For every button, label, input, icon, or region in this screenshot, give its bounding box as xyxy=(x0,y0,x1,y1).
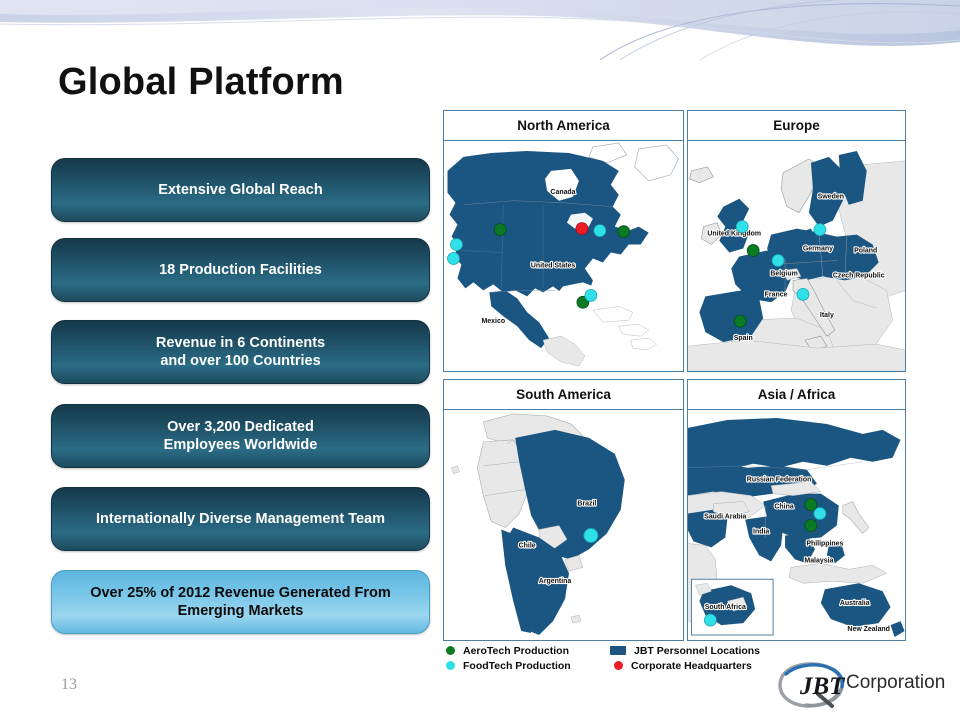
map-label-india: India xyxy=(753,528,769,535)
map-label-malaysia: Malaysia xyxy=(804,557,833,564)
legend-item-aerotech-production[interactable]: AeroTech Production xyxy=(446,644,569,657)
header-swoosh-decoration xyxy=(0,0,960,60)
legend-label: JBT Personnel Locations xyxy=(634,645,760,657)
marker-aerotech[interactable] xyxy=(747,245,759,257)
map-label-australia: Australia xyxy=(840,600,870,607)
map-svg-south-america: Brazil Chile Argentina xyxy=(444,410,683,640)
bullet-label-line2: and over 100 Countries xyxy=(156,352,325,370)
map-label-spain: Spain xyxy=(734,335,753,342)
marker-headquarters[interactable] xyxy=(576,223,588,235)
legend-dot-cyan-icon xyxy=(446,661,455,670)
slide-canvas: Global Platform Extensive Global Reach 1… xyxy=(0,0,960,720)
map-label-philippines: Philippines xyxy=(806,540,843,547)
map-label-italy: Italy xyxy=(820,312,834,319)
map-label-south-africa: South Africa xyxy=(705,604,746,611)
map-label-poland: Poland xyxy=(854,248,877,255)
map-panel-europe[interactable]: Europe xyxy=(687,110,906,372)
map-label-mexico: Mexico xyxy=(482,318,506,325)
logo-corporation-text: Corporation xyxy=(846,672,945,694)
bullet-label: Internationally Diverse Management Team xyxy=(96,510,385,528)
map-label-france: France xyxy=(765,291,788,298)
bullet-label: 18 Production Facilities xyxy=(159,261,322,279)
page-number: 13 xyxy=(61,676,77,694)
marker-foodtech[interactable] xyxy=(450,239,462,251)
marker-foodtech[interactable] xyxy=(585,289,597,301)
map-body-europe: Sweden United Kingdom Germany Poland Bel… xyxy=(688,141,905,371)
bullet-label-line2: Emerging Markets xyxy=(90,602,391,620)
legend-item-corporate-headquarters[interactable]: Corporate Headquarters xyxy=(614,659,752,672)
map-label-canada: Canada xyxy=(550,189,575,196)
map-label-united-kingdom: United Kingdom xyxy=(707,231,761,238)
swoosh-svg xyxy=(0,0,960,60)
bullet-employees-worldwide[interactable]: Over 3,200 Dedicated Employees Worldwide xyxy=(51,404,430,468)
marker-foodtech[interactable] xyxy=(814,224,826,236)
map-svg-north-america: Canada United States Mexico xyxy=(444,141,683,371)
bullet-label: Extensive Global Reach xyxy=(158,181,322,199)
marker-foodtech[interactable] xyxy=(584,528,598,542)
map-panel-asia-africa[interactable]: Asia / Africa xyxy=(687,379,906,641)
map-label-czech-republic: Czech Republic xyxy=(833,272,885,279)
marker-foodtech[interactable] xyxy=(736,221,748,233)
bullet-label-group: Revenue in 6 Continents and over 100 Cou… xyxy=(156,334,325,370)
map-label-new-zealand: New Zealand xyxy=(847,626,890,633)
bullet-emerging-markets-revenue[interactable]: Over 25% of 2012 Revenue Generated From … xyxy=(51,570,430,634)
bullet-extensive-global-reach[interactable]: Extensive Global Reach xyxy=(51,158,430,222)
bullet-diverse-management-team[interactable]: Internationally Diverse Management Team xyxy=(51,487,430,551)
legend-square-navy-icon xyxy=(610,646,626,655)
marker-aerotech[interactable] xyxy=(618,226,630,238)
map-label-china: China xyxy=(774,504,793,511)
marker-aerotech[interactable] xyxy=(805,520,817,532)
map-label-sweden: Sweden xyxy=(818,194,844,201)
map-body-north-america: Canada United States Mexico xyxy=(444,141,683,371)
panel-title-europe: Europe xyxy=(688,111,905,141)
map-label-russian-federation: Russian Federation xyxy=(747,477,812,484)
map-label-chile: Chile xyxy=(519,542,536,549)
marker-foodtech[interactable] xyxy=(814,508,826,520)
map-label-saudi-arabia: Saudi Arabia xyxy=(704,514,746,521)
map-label-brazil: Brazil xyxy=(577,501,596,508)
marker-aerotech[interactable] xyxy=(805,499,817,511)
marker-foodtech[interactable] xyxy=(594,225,606,237)
map-label-argentina: Argentina xyxy=(539,578,572,585)
legend-label: Corporate Headquarters xyxy=(631,660,752,672)
map-svg-asia-africa: Russian Federation China Saudi Arabia In… xyxy=(688,410,905,640)
map-legend: AeroTech Production FoodTech Production … xyxy=(443,643,783,673)
map-body-asia-africa: Russian Federation China Saudi Arabia In… xyxy=(688,410,905,640)
panel-title-south-america: South America xyxy=(444,380,683,410)
panel-title-asia-africa: Asia / Africa xyxy=(688,380,905,410)
legend-item-jbt-personnel-locations[interactable]: JBT Personnel Locations xyxy=(610,644,760,657)
map-label-belgium: Belgium xyxy=(770,270,797,277)
map-label-united-states: United States xyxy=(531,262,576,269)
map-panel-south-america[interactable]: South America xyxy=(443,379,684,641)
legend-label: AeroTech Production xyxy=(463,645,569,657)
map-svg-europe: Sweden United Kingdom Germany Poland Bel… xyxy=(688,141,905,371)
map-body-south-america: Brazil Chile Argentina xyxy=(444,410,683,640)
page-title: Global Platform xyxy=(58,62,344,104)
bullet-label-group: Over 25% of 2012 Revenue Generated From … xyxy=(90,584,391,620)
panel-title-north-america: North America xyxy=(444,111,683,141)
legend-dot-green-icon xyxy=(446,646,455,655)
bullet-label-line1: Over 25% of 2012 Revenue Generated From xyxy=(90,584,391,602)
legend-dot-red-icon xyxy=(614,661,623,670)
logo-jbt-text: JBT xyxy=(799,673,846,700)
jbt-corporation-logo: JBT Corporation xyxy=(778,660,950,712)
marker-foodtech[interactable] xyxy=(797,288,809,300)
legend-item-foodtech-production[interactable]: FoodTech Production xyxy=(446,659,571,672)
bullet-revenue-continents[interactable]: Revenue in 6 Continents and over 100 Cou… xyxy=(51,320,430,384)
bullet-label-group: Over 3,200 Dedicated Employees Worldwide xyxy=(164,418,318,454)
bullet-production-facilities[interactable]: 18 Production Facilities xyxy=(51,238,430,302)
map-label-germany: Germany xyxy=(803,246,833,253)
marker-foodtech[interactable] xyxy=(448,253,460,265)
legend-label: FoodTech Production xyxy=(463,660,571,672)
map-panel-north-america[interactable]: North America xyxy=(443,110,684,372)
marker-foodtech[interactable] xyxy=(772,255,784,267)
marker-aerotech[interactable] xyxy=(734,315,746,327)
bullet-label-line2: Employees Worldwide xyxy=(164,436,318,454)
bullet-label-line1: Revenue in 6 Continents xyxy=(156,334,325,352)
bullet-label-line1: Over 3,200 Dedicated xyxy=(164,418,318,436)
marker-aerotech[interactable] xyxy=(494,224,506,236)
marker-foodtech[interactable] xyxy=(704,614,716,626)
